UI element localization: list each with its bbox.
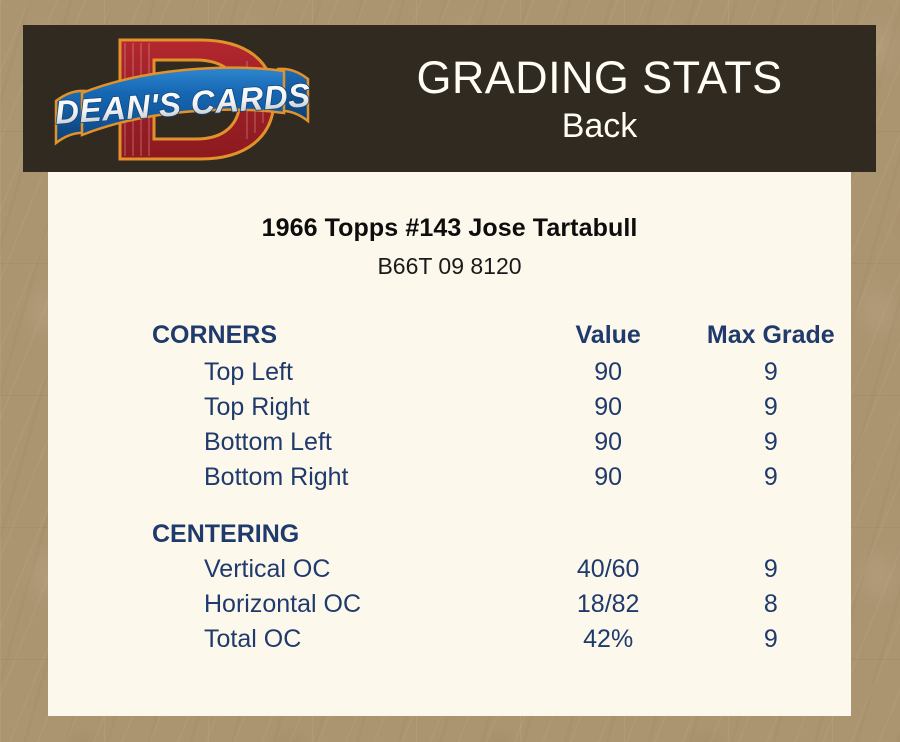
- table-row: Total OC 42% 9: [48, 622, 851, 657]
- row-label-bottom-left: Bottom Left: [48, 425, 526, 460]
- row-value-bottom-left: 90: [526, 425, 691, 460]
- content-panel: 1966 Topps #143 Jose Tartabull B66T 09 8…: [48, 172, 851, 716]
- section-title-corners: CORNERS: [48, 318, 526, 355]
- column-header-max-grade: Max Grade: [691, 318, 851, 355]
- table-row: Top Left 90 9: [48, 355, 851, 390]
- section-header-centering: CENTERING: [48, 517, 851, 552]
- row-label-top-right: Top Right: [48, 390, 526, 425]
- row-grade-bottom-left: 9: [691, 425, 851, 460]
- section-spacer: [48, 495, 851, 517]
- row-label-total-oc: Total OC: [48, 622, 526, 657]
- row-grade-total-oc: 9: [691, 622, 851, 657]
- card-title: 1966 Topps #143 Jose Tartabull: [48, 214, 851, 243]
- grading-stats-table: CORNERS Value Max Grade Top Left 90 9 To…: [48, 318, 851, 657]
- row-value-bottom-right: 90: [526, 460, 691, 495]
- header-bar: DEAN'S CARDS GRADING STATS Back: [23, 25, 876, 172]
- row-grade-horizontal-oc: 8: [691, 587, 851, 622]
- card-code: B66T 09 8120: [48, 253, 851, 280]
- row-grade-vertical-oc: 9: [691, 552, 851, 587]
- row-grade-top-left: 9: [691, 355, 851, 390]
- table-row: Top Right 90 9: [48, 390, 851, 425]
- logo-artwork: DEAN'S CARDS: [50, 27, 315, 172]
- row-label-bottom-right: Bottom Right: [48, 460, 526, 495]
- section-header-corners: CORNERS Value Max Grade: [48, 318, 851, 355]
- table-row: Vertical OC 40/60 9: [48, 552, 851, 587]
- page-subtitle: Back: [562, 106, 638, 146]
- deans-cards-logo[interactable]: DEAN'S CARDS: [50, 27, 315, 172]
- section-title-centering: CENTERING: [48, 517, 526, 552]
- header-title-block: GRADING STATS Back: [323, 25, 876, 172]
- column-header-value: Value: [526, 318, 691, 355]
- row-value-total-oc: 42%: [526, 622, 691, 657]
- row-grade-bottom-right: 9: [691, 460, 851, 495]
- table-row: Horizontal OC 18/82 8: [48, 587, 851, 622]
- row-value-top-left: 90: [526, 355, 691, 390]
- table-row: Bottom Left 90 9: [48, 425, 851, 460]
- row-label-vertical-oc: Vertical OC: [48, 552, 526, 587]
- table-row: Bottom Right 90 9: [48, 460, 851, 495]
- row-value-vertical-oc: 40/60: [526, 552, 691, 587]
- row-value-horizontal-oc: 18/82: [526, 587, 691, 622]
- row-grade-top-right: 9: [691, 390, 851, 425]
- page-title: GRADING STATS: [416, 51, 782, 104]
- row-label-top-left: Top Left: [48, 355, 526, 390]
- row-value-top-right: 90: [526, 390, 691, 425]
- row-label-horizontal-oc: Horizontal OC: [48, 587, 526, 622]
